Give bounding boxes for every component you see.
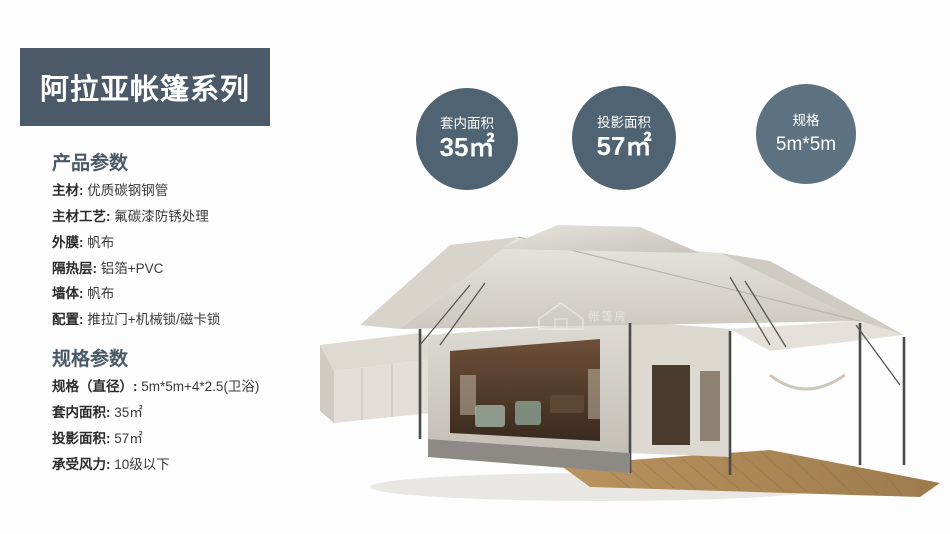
spec-value: 5m*5m+4*2.5(卫浴) bbox=[141, 379, 259, 394]
watermark-text: 帐篷房 bbox=[589, 308, 628, 324]
right-room-door bbox=[652, 365, 690, 445]
interior-chair bbox=[515, 401, 541, 425]
stat-label: 投影面积 bbox=[597, 115, 651, 131]
tent-illustration bbox=[300, 225, 950, 525]
title-banner: 阿拉亚帐篷系列 bbox=[20, 48, 270, 126]
spec-row: 主材: 优质碳钢钢管 bbox=[52, 184, 352, 199]
watermark: 帐篷房 bbox=[520, 296, 640, 336]
spec-label: 配置: bbox=[52, 312, 84, 327]
stat-circle-size: 规格 5m*5m bbox=[756, 84, 856, 184]
spec-value: 优质碳钢钢管 bbox=[87, 183, 168, 198]
hammock bbox=[770, 375, 845, 389]
spec-value: 氟碳漆防锈处理 bbox=[114, 209, 209, 224]
spec-label: 主材: bbox=[52, 183, 84, 198]
spec-row: 主材工艺: 氟碳漆防锈处理 bbox=[52, 210, 352, 225]
stat-value: 57㎡ bbox=[597, 133, 652, 160]
peak-roof bbox=[500, 225, 700, 253]
spec-label: 隔热层: bbox=[52, 261, 97, 276]
interior-table bbox=[550, 395, 584, 413]
interior-chair bbox=[475, 405, 505, 427]
page-title: 阿拉亚帐篷系列 bbox=[40, 66, 250, 108]
spec-value: 57㎡ bbox=[114, 431, 143, 446]
spec-value: 35㎡ bbox=[114, 405, 143, 420]
product-params-heading: 产品参数 bbox=[52, 148, 352, 175]
spec-value: 帆布 bbox=[87, 286, 114, 301]
interior-curtain bbox=[588, 369, 600, 419]
spec-label: 外膜: bbox=[52, 235, 84, 250]
spec-label: 承受风力: bbox=[52, 457, 111, 472]
stat-value: 5m*5m bbox=[776, 135, 836, 155]
spec-label: 墙体: bbox=[52, 286, 84, 301]
stat-circle-indoor-area: 套内面积 35㎡ bbox=[416, 88, 518, 190]
spec-label: 规格（直径）: bbox=[52, 379, 138, 394]
spec-value: 推拉门+机械锁/磁卡锁 bbox=[87, 312, 220, 327]
spec-value: 10级以下 bbox=[114, 457, 170, 472]
stat-label: 规格 bbox=[793, 113, 820, 129]
stat-circle-projection-area: 投影面积 57㎡ bbox=[572, 86, 676, 190]
stat-label: 套内面积 bbox=[440, 116, 494, 132]
spec-value: 铝箔+PVC bbox=[101, 261, 164, 276]
right-room-window bbox=[700, 371, 720, 441]
spec-label: 主材工艺: bbox=[52, 209, 111, 224]
slide-page: 阿拉亚帐篷系列 产品参数 主材: 优质碳钢钢管 主材工艺: 氟碳漆防锈处理 外膜… bbox=[0, 0, 950, 534]
spec-label: 套内面积: bbox=[52, 405, 111, 420]
watermark-house-icon bbox=[533, 299, 589, 333]
spec-label: 投影面积: bbox=[52, 431, 111, 446]
interior-curtain bbox=[460, 375, 476, 415]
stat-value: 35㎡ bbox=[440, 134, 495, 161]
spec-value: 帆布 bbox=[87, 235, 114, 250]
